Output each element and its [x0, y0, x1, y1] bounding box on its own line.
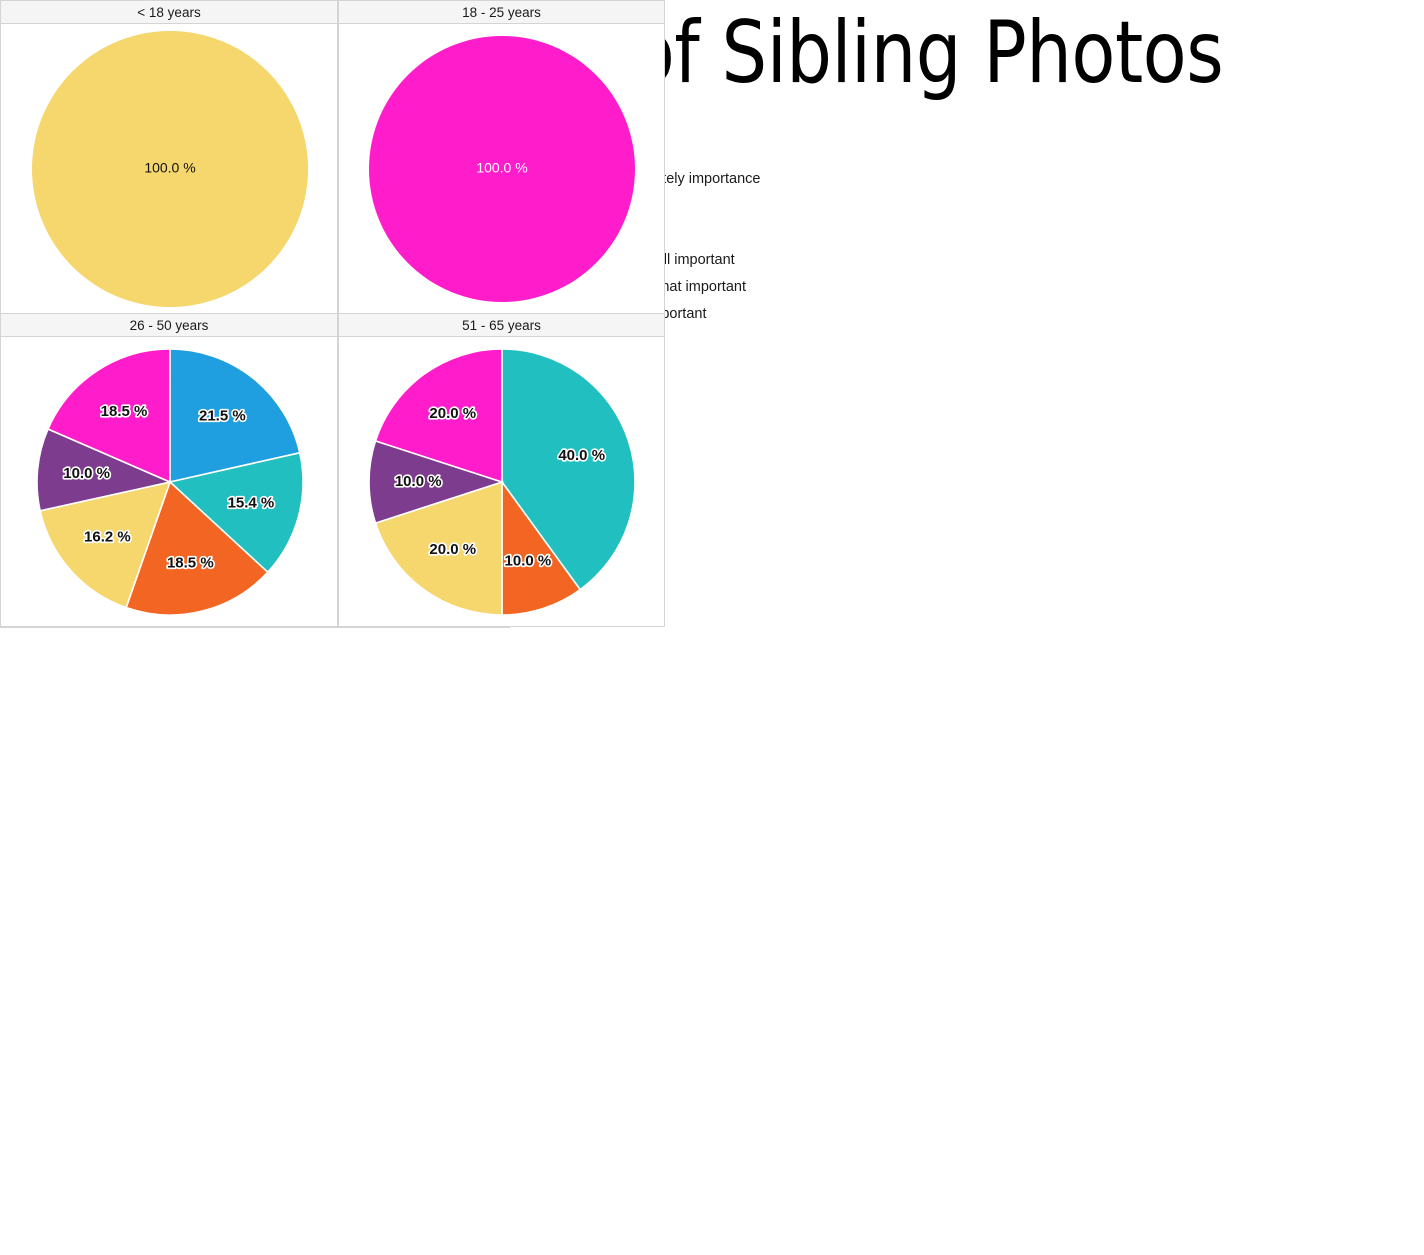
pie-slice-label: 40.0 % — [558, 447, 605, 464]
pie-slice-label: 10.0 % — [505, 553, 552, 570]
pie-slice-label: 20.0 % — [429, 541, 476, 558]
pie-slice-label: 21.5 % — [199, 408, 246, 425]
pie-slice-label: 18.5 % — [167, 554, 214, 571]
panel-header-label: < 18 years — [137, 5, 200, 20]
age-chart-panel: < 18 years 100.0 % 18 - 25 years 100.0 %… — [0, 628, 665, 1255]
pie-slice-label: 20.0 % — [429, 405, 476, 422]
panel-header-18-25: 18 - 25 years — [338, 0, 665, 24]
pie-slice-label: 15.4 % — [228, 495, 275, 512]
pie-slice-label: 18.5 % — [101, 403, 148, 420]
pie-slice-label: 100.0 % — [476, 160, 527, 176]
pie-chart-under-18[interactable]: 100.0 % — [1, 24, 339, 314]
pie-chart-51-65[interactable]: 40.0 %10.0 %20.0 %10.0 %20.0 % — [339, 337, 666, 627]
pie-chart-18-25[interactable]: 100.0 % — [339, 24, 666, 314]
pie-slice-label: 100.0 % — [144, 160, 195, 176]
pie-chart-26-50[interactable]: 21.5 %15.4 %18.5 %16.2 %10.0 %18.5 % — [1, 337, 339, 627]
pie-slice-label: 10.0 % — [63, 465, 110, 482]
panel-header-26-50: 26 - 50 years — [0, 313, 338, 337]
panel-header-label: 18 - 25 years — [462, 5, 541, 20]
panel-header-label: 51 - 65 years — [462, 318, 541, 333]
pie-cell-26-50: 21.5 %15.4 %18.5 %16.2 %10.0 %18.5 % — [0, 337, 338, 627]
pie-slice-label: 16.2 % — [84, 529, 131, 546]
panel-header-under-18: < 18 years — [0, 0, 338, 24]
panel-header-51-65: 51 - 65 years — [338, 313, 665, 337]
pie-cell-under-18: 100.0 % — [0, 24, 338, 314]
pie-slice-label: 10.0 % — [395, 473, 442, 490]
panel-header-label: 26 - 50 years — [130, 318, 209, 333]
pie-cell-51-65: 40.0 %10.0 %20.0 %10.0 %20.0 % — [338, 337, 665, 627]
pie-cell-18-25: 100.0 % — [338, 24, 665, 314]
